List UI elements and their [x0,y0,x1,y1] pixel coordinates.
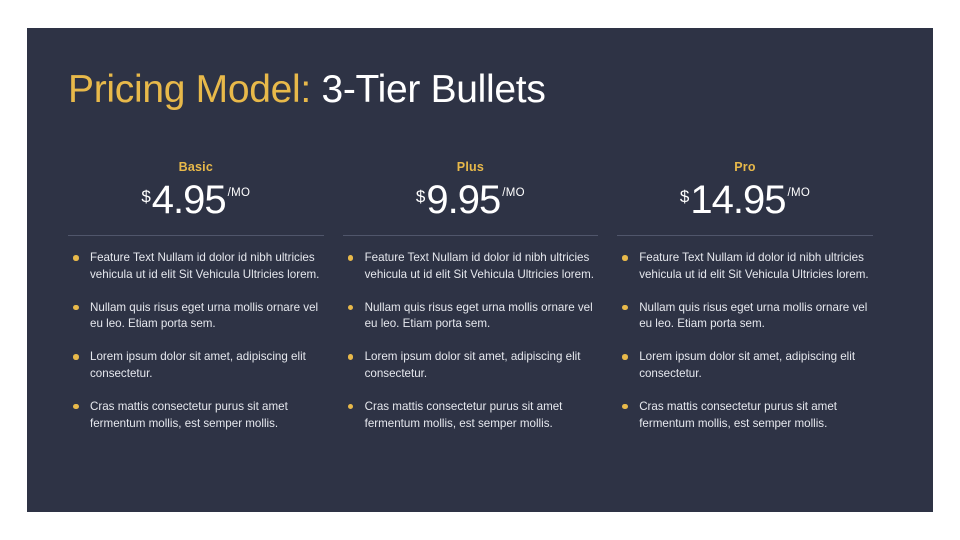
bullet-dot-icon [622,305,628,311]
feature-text: Cras mattis consectetur purus sit amet f… [90,400,288,430]
list-item: Feature Text Nullam id dolor id nibh ult… [343,250,599,284]
page-title-plain: 3-Tier Bullets [311,68,546,111]
list-item: Cras mattis consectetur purus sit amet f… [617,399,873,433]
price-period: /MO [502,188,525,200]
list-item: Cras mattis consectetur purus sit amet f… [68,399,324,433]
price-amount: 14.95 [690,180,785,220]
tier-price: $9.95/MO [343,176,599,220]
price-currency-symbol: $ [680,188,689,205]
tier-name: Pro [617,160,873,174]
feature-text: Feature Text Nullam id dolor id nibh ult… [365,251,594,281]
price-amount: 4.95 [152,180,226,220]
feature-list: Feature Text Nullam id dolor id nibh ult… [617,250,873,432]
pricing-column-basic: Basic$4.95/MOFeature Text Nullam id dolo… [68,160,343,432]
bullet-dot-icon [348,404,354,410]
feature-text: Lorem ipsum dolor sit amet, adipiscing e… [639,350,855,380]
price-period: /MO [787,188,810,200]
list-item: Lorem ipsum dolor sit amet, adipiscing e… [68,349,324,383]
bullet-dot-icon [622,404,628,410]
list-item: Cras mattis consectetur purus sit amet f… [343,399,599,433]
column-divider [68,235,324,236]
column-divider [617,235,873,236]
pricing-column-pro: Pro$14.95/MOFeature Text Nullam id dolor… [617,160,892,432]
column-divider [343,235,599,236]
price-period: /MO [228,188,251,200]
feature-text: Cras mattis consectetur purus sit amet f… [639,400,837,430]
page-title-accent: Pricing Model: [68,68,311,111]
price-currency-symbol: $ [141,188,150,205]
list-item: Lorem ipsum dolor sit amet, adipiscing e… [617,349,873,383]
feature-text: Lorem ipsum dolor sit amet, adipiscing e… [90,350,306,380]
feature-text: Feature Text Nullam id dolor id nibh ult… [90,251,319,281]
list-item: Nullam quis risus eget urna mollis ornar… [617,300,873,334]
page-title: Pricing Model: 3-Tier Bullets [68,70,546,109]
list-item: Feature Text Nullam id dolor id nibh ult… [68,250,324,284]
tier-price: $14.95/MO [617,176,873,220]
feature-list: Feature Text Nullam id dolor id nibh ult… [343,250,599,432]
bullet-dot-icon [622,354,628,360]
price-amount: 9.95 [426,180,500,220]
pricing-columns: Basic$4.95/MOFeature Text Nullam id dolo… [68,160,892,432]
feature-text: Cras mattis consectetur purus sit amet f… [365,400,563,430]
list-item: Nullam quis risus eget urna mollis ornar… [343,300,599,334]
feature-text: Nullam quis risus eget urna mollis ornar… [365,301,593,331]
list-item: Lorem ipsum dolor sit amet, adipiscing e… [343,349,599,383]
price-currency-symbol: $ [416,188,425,205]
feature-text: Lorem ipsum dolor sit amet, adipiscing e… [365,350,581,380]
feature-list: Feature Text Nullam id dolor id nibh ult… [68,250,324,432]
bullet-dot-icon [73,354,79,360]
feature-text: Nullam quis risus eget urna mollis ornar… [639,301,867,331]
tier-price: $4.95/MO [68,176,324,220]
bullet-dot-icon [73,404,79,410]
bullet-dot-icon [73,305,79,311]
bullet-dot-icon [73,255,79,261]
feature-text: Feature Text Nullam id dolor id nibh ult… [639,251,868,281]
bullet-dot-icon [348,354,354,360]
bullet-dot-icon [348,255,354,261]
feature-text: Nullam quis risus eget urna mollis ornar… [90,301,318,331]
bullet-dot-icon [622,255,628,261]
bullet-dot-icon [348,305,354,311]
tier-name: Plus [343,160,599,174]
list-item: Nullam quis risus eget urna mollis ornar… [68,300,324,334]
tier-name: Basic [68,160,324,174]
list-item: Feature Text Nullam id dolor id nibh ult… [617,250,873,284]
pricing-column-plus: Plus$9.95/MOFeature Text Nullam id dolor… [343,160,618,432]
slide-canvas: Pricing Model: 3-Tier Bullets Basic$4.95… [27,28,933,512]
